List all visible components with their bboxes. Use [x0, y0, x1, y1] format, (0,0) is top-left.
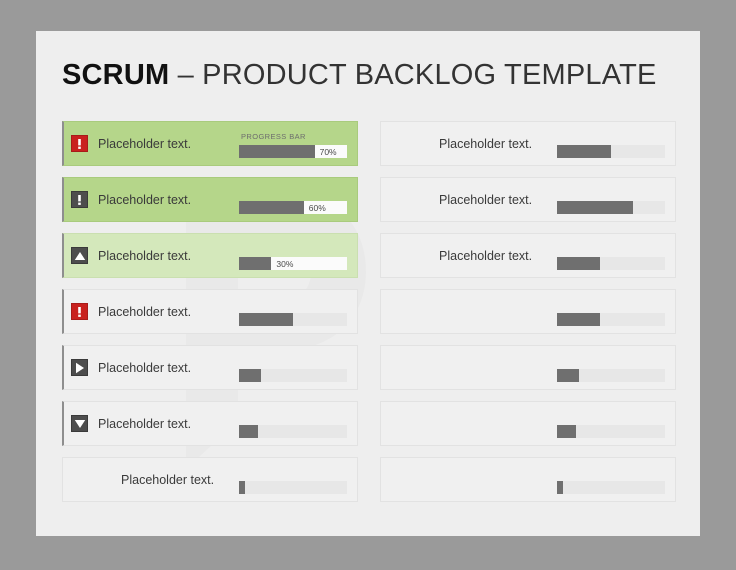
priority-icon-placeholder: [388, 247, 405, 264]
progress-bar-percent: 30%: [271, 257, 347, 270]
progress-bar-group: [239, 369, 347, 382]
progress-bar-fill: [239, 425, 258, 438]
progress-bar-fill: [239, 201, 304, 214]
priority-icon-placeholder: [388, 359, 405, 376]
backlog-item-card[interactable]: [380, 457, 676, 502]
progress-bar-track[interactable]: [557, 257, 665, 270]
progress-bar-percent: 60%: [304, 201, 347, 214]
backlog-item-card[interactable]: Placeholder text.: [62, 289, 358, 334]
priority-icon-placeholder: [388, 415, 405, 432]
progress-bar-group: [557, 481, 665, 494]
backlog-item-text: Placeholder text.: [98, 193, 239, 207]
slide-canvas: SCRUM – PRODUCT BACKLOG TEMPLATE Placeho…: [36, 31, 700, 536]
backlog-item-text: Placeholder text.: [98, 249, 239, 263]
backlog-item-text: Placeholder text.: [98, 361, 239, 375]
backlog-item-card[interactable]: Placeholder text.PROGRESS BAR70%: [62, 121, 358, 166]
backlog-item-card[interactable]: Placeholder text.: [62, 345, 358, 390]
progress-bar-track[interactable]: [557, 425, 665, 438]
progress-bar-fill: [557, 481, 563, 494]
backlog-item-card[interactable]: [380, 289, 676, 334]
progress-bar-group: [557, 369, 665, 382]
backlog-item-card[interactable]: Placeholder text.60%: [62, 177, 358, 222]
progress-bar-track[interactable]: [239, 369, 347, 382]
backlog-item-text: Placeholder text.: [439, 193, 557, 207]
progress-bar-track[interactable]: [239, 425, 347, 438]
backlog-item-card[interactable]: Placeholder text.: [380, 121, 676, 166]
progress-bar-track[interactable]: [557, 481, 665, 494]
priority-icon-placeholder: [388, 303, 405, 320]
progress-bar-fill: [239, 369, 261, 382]
backlog-item-card[interactable]: Placeholder text.: [380, 177, 676, 222]
right-column: Placeholder text.Placeholder text.Placeh…: [380, 121, 676, 502]
arrow-right-icon[interactable]: [71, 359, 88, 376]
backlog-board: Placeholder text.PROGRESS BAR70%Placehol…: [62, 121, 677, 502]
progress-bar-fill: [557, 369, 579, 382]
left-column: Placeholder text.PROGRESS BAR70%Placehol…: [62, 121, 358, 502]
priority-icon-placeholder: [388, 471, 405, 488]
progress-bar-group: [557, 257, 665, 270]
progress-bar-group: [239, 425, 347, 438]
progress-bar-track[interactable]: [557, 145, 665, 158]
alert-exclamation-icon[interactable]: [71, 303, 88, 320]
progress-bar-fill: [239, 257, 271, 270]
backlog-item-text: Placeholder text.: [121, 473, 239, 487]
backlog-item-text: Placeholder text.: [98, 417, 239, 431]
progress-bar-track[interactable]: [239, 481, 347, 494]
progress-bar-fill: [557, 425, 576, 438]
backlog-item-card[interactable]: Placeholder text.30%: [62, 233, 358, 278]
backlog-item-card[interactable]: [380, 401, 676, 446]
progress-bar-fill: [239, 313, 293, 326]
arrow-down-icon[interactable]: [71, 415, 88, 432]
alert-exclamation-icon[interactable]: [71, 135, 88, 152]
priority-icon-placeholder: [388, 135, 405, 152]
progress-bar-group: 60%: [239, 201, 347, 214]
progress-bar-group: [557, 313, 665, 326]
progress-bar-group: [557, 201, 665, 214]
progress-bar-group: [239, 481, 347, 494]
progress-bar-fill: [557, 313, 600, 326]
backlog-item-text: Placeholder text.: [98, 137, 239, 151]
progress-bar-fill: [557, 145, 611, 158]
progress-bar-track[interactable]: [557, 313, 665, 326]
backlog-item-text: Placeholder text.: [439, 137, 557, 151]
progress-bar-fill: [239, 481, 245, 494]
progress-bar-label: PROGRESS BAR: [241, 132, 306, 141]
progress-bar-group: [557, 145, 665, 158]
page-title-rest: – PRODUCT BACKLOG TEMPLATE: [169, 59, 656, 91]
priority-icon-placeholder: [388, 191, 405, 208]
progress-bar-group: 30%: [239, 257, 347, 270]
arrow-up-icon[interactable]: [71, 247, 88, 264]
progress-bar-fill: [557, 201, 633, 214]
backlog-item-text: Placeholder text.: [98, 305, 239, 319]
backlog-item-text: Placeholder text.: [439, 249, 557, 263]
progress-bar-track[interactable]: [557, 369, 665, 382]
progress-bar-track[interactable]: 30%: [239, 257, 347, 270]
progress-bar-percent: 70%: [315, 145, 347, 158]
backlog-item-card[interactable]: [380, 345, 676, 390]
page-title: SCRUM – PRODUCT BACKLOG TEMPLATE: [62, 59, 657, 92]
priority-icon-placeholder: [70, 471, 87, 488]
progress-bar-track[interactable]: [557, 201, 665, 214]
backlog-item-card[interactable]: Placeholder text.: [380, 233, 676, 278]
progress-bar-fill: [239, 145, 315, 158]
progress-bar-group: PROGRESS BAR70%: [239, 145, 347, 158]
progress-bar-fill: [557, 257, 600, 270]
backlog-item-card[interactable]: Placeholder text.: [62, 457, 358, 502]
alert-exclamation-icon[interactable]: [71, 191, 88, 208]
progress-bar-track[interactable]: [239, 313, 347, 326]
progress-bar-group: [239, 313, 347, 326]
progress-bar-track[interactable]: 60%: [239, 201, 347, 214]
backlog-item-card[interactable]: Placeholder text.: [62, 401, 358, 446]
progress-bar-group: [557, 425, 665, 438]
progress-bar-track[interactable]: 70%: [239, 145, 347, 158]
page-title-strong: SCRUM: [62, 59, 169, 91]
